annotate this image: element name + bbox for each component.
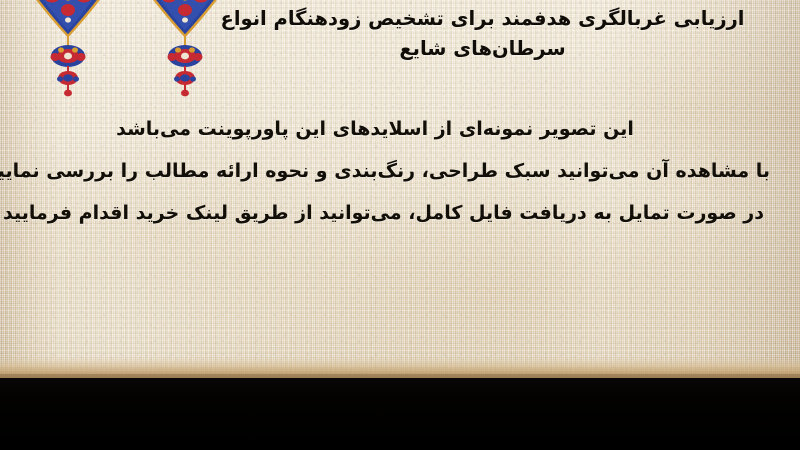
slide-title: ارزیابی غربالگری هدفمند برای تشخیص زودهن… bbox=[170, 4, 795, 64]
body-line-2: با مشاهده آن می‌توانید سبک طراحی، رنگ‌بن… bbox=[40, 150, 770, 192]
slide-title-line-2: سرطان‌های شایع bbox=[170, 34, 795, 64]
body-line-1: این تصویر نمونه‌ای از اسلایدهای این پاور… bbox=[40, 108, 770, 150]
slide-canvas: ارزیابی غربالگری هدفمند برای تشخیص زودهن… bbox=[0, 0, 800, 450]
slide-title-line-1: ارزیابی غربالگری هدفمند برای تشخیص زودهن… bbox=[170, 4, 795, 34]
slide-body: این تصویر نمونه‌ای از اسلایدهای این پاور… bbox=[40, 108, 770, 234]
body-line-3: در صورت تمایل به دریافت فایل کامل، می‌تو… bbox=[40, 192, 770, 234]
carpet-selvedge-edge bbox=[0, 358, 800, 378]
bottom-black-band bbox=[0, 374, 800, 450]
slide-text-layer: ارزیابی غربالگری هدفمند برای تشخیص زودهن… bbox=[0, 0, 800, 379]
